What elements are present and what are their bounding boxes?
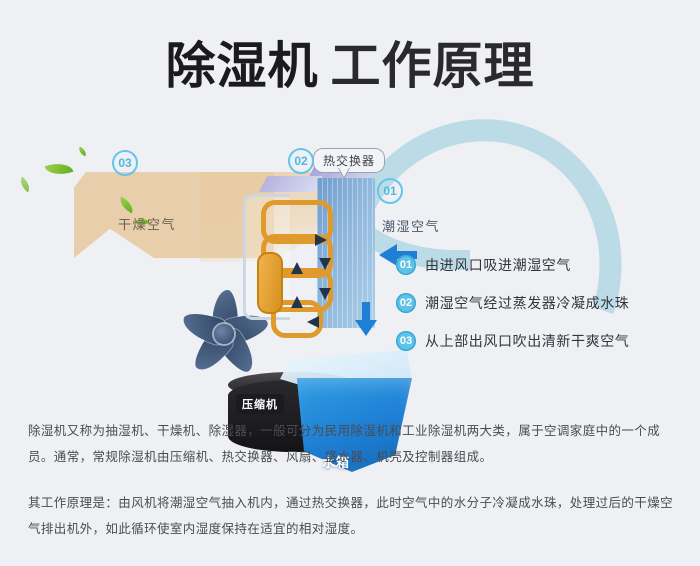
condensate-arrow-icon — [355, 320, 377, 336]
infographic-page: 除湿机工作原理 — [0, 0, 700, 566]
flow-arrow-down-icon — [319, 288, 331, 300]
description-block: 除湿机又称为抽湿机、干燥机、除湿器，一般可分为民用除湿机和工业除湿机两大类，属于… — [28, 418, 676, 552]
condenser-coil-icon — [257, 200, 331, 330]
legend-badge-02: 02 — [396, 293, 416, 313]
legend-item: 01 由进风口吸进潮湿空气 — [396, 255, 686, 275]
flow-arrow-up-icon — [291, 262, 303, 274]
callout-pointer-icon — [338, 168, 350, 179]
dry-air-label: 干燥空气 — [118, 214, 176, 233]
legend-text-01: 由进风口吸进潮湿空气 — [425, 255, 571, 275]
page-title-primary: 除湿机 — [166, 37, 319, 95]
leaf-icon — [77, 147, 88, 157]
refrigerant-cylinder-icon — [257, 252, 283, 314]
legend-list: 01 由进风口吸进潮湿空气 02 潮湿空气经过蒸发器冷凝成水珠 03 从上部出风… — [396, 255, 686, 369]
intake-arrow-icon — [379, 244, 397, 266]
flow-arrow-down-icon — [319, 258, 331, 270]
legend-text-03: 从上部出风口吹出清新干爽空气 — [425, 331, 629, 351]
legend-badge-01: 01 — [396, 255, 416, 275]
legend-text-02: 潮湿空气经过蒸发器冷凝成水珠 — [425, 293, 629, 313]
condenser-top-plate-icon — [259, 176, 324, 192]
legend-badge-03: 03 — [396, 331, 416, 351]
humid-air-label: 潮湿空气 — [382, 216, 440, 235]
compressor-label: 压缩机 — [236, 394, 284, 414]
leaf-icon — [44, 158, 73, 179]
dehumidifier-internals — [243, 170, 383, 370]
flow-arrow-right-icon — [315, 234, 327, 246]
description-paragraph-2: 其工作原理是：由风机将潮湿空气抽入机内，通过热交换器，此时空气中的水分子冷凝成水… — [28, 490, 676, 542]
page-title-secondary: 工作原理 — [331, 37, 535, 95]
diagram-badge-03: 03 — [112, 150, 138, 176]
flow-arrow-left-icon — [307, 316, 319, 328]
legend-item: 02 潮湿空气经过蒸发器冷凝成水珠 — [396, 293, 686, 313]
diagram-badge-02: 02 — [288, 148, 314, 174]
legend-item: 03 从上部出风口吹出清新干爽空气 — [396, 331, 686, 351]
description-paragraph-1: 除湿机又称为抽湿机、干燥机、除湿器，一般可分为民用除湿机和工业除湿机两大类，属于… — [28, 418, 676, 470]
diagram-badge-01: 01 — [377, 178, 403, 204]
leaf-icon — [17, 177, 34, 193]
condensate-arrow-tail-icon — [362, 302, 370, 322]
flow-arrow-up-icon — [291, 296, 303, 308]
page-title: 除湿机工作原理 — [0, 26, 700, 98]
